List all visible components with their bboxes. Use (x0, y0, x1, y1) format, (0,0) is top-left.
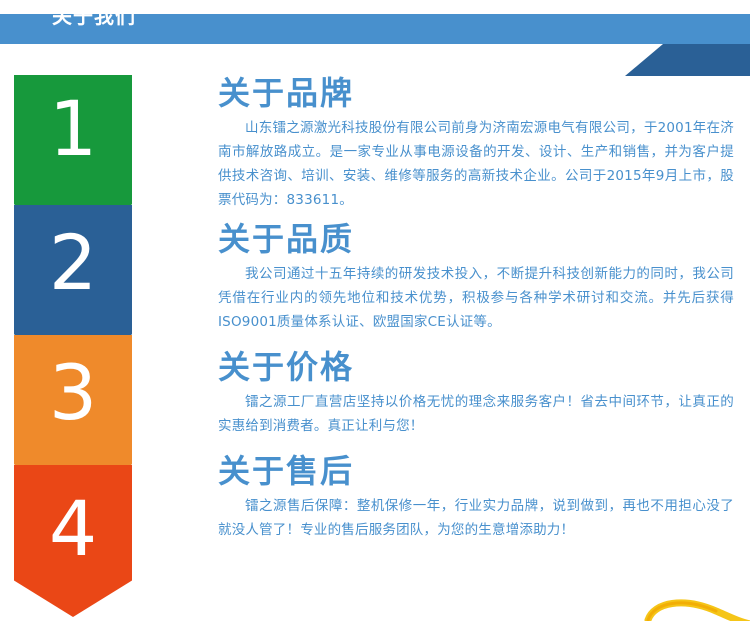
header-tab-label: 关于我们 (52, 4, 136, 28)
step-arrow-4: 4 (14, 465, 132, 617)
section-brand: 关于品牌 山东镭之源激光科技股份有限公司前身为济南宏源电气有限公司，于2001年… (218, 72, 734, 212)
swoosh-decoration-icon (640, 594, 750, 621)
step-number-1: 1 (49, 75, 97, 167)
section-body-price: 镭之源工厂直营店坚持以价格无忧的理念来服务客户！省去中间环节，让真正的实惠给到消… (218, 390, 734, 438)
about-us-page: 关于我们 1 2 3 4 关于品牌 山东镭之源激光科技股份有限公司前身为济南宏源… (0, 0, 750, 621)
section-title-quality: 关于品质 (218, 218, 734, 260)
section-body-brand: 山东镭之源激光科技股份有限公司前身为济南宏源电气有限公司，于2001年在济南市解… (218, 116, 734, 212)
section-title-price: 关于价格 (218, 346, 734, 388)
step-number-4: 4 (49, 465, 97, 567)
section-after-sales: 关于售后 镭之源售后保障：整机保修一年，行业实力品牌，说到做到，再也不用担心没了… (218, 450, 734, 542)
step-arrow-column: 1 2 3 4 (14, 75, 132, 617)
section-title-after-sales: 关于售后 (218, 450, 734, 492)
section-body-after-sales: 镭之源售后保障：整机保修一年，行业实力品牌，说到做到，再也不用担心没了就没人管了… (218, 494, 734, 542)
step-number-3: 3 (49, 335, 97, 431)
section-price: 关于价格 镭之源工厂直营店坚持以价格无忧的理念来服务客户！省去中间环节，让真正的… (218, 346, 734, 438)
section-title-brand: 关于品牌 (218, 72, 734, 114)
section-quality: 关于品质 我公司通过十五年持续的研发技术投入，不断提升科技创新能力的同时，我公司… (218, 218, 734, 334)
content-column: 关于品牌 山东镭之源激光科技股份有限公司前身为济南宏源电气有限公司，于2001年… (218, 72, 734, 546)
step-number-2: 2 (49, 205, 97, 301)
section-body-quality: 我公司通过十五年持续的研发技术投入，不断提升科技创新能力的同时，我公司凭借在行业… (218, 262, 734, 334)
